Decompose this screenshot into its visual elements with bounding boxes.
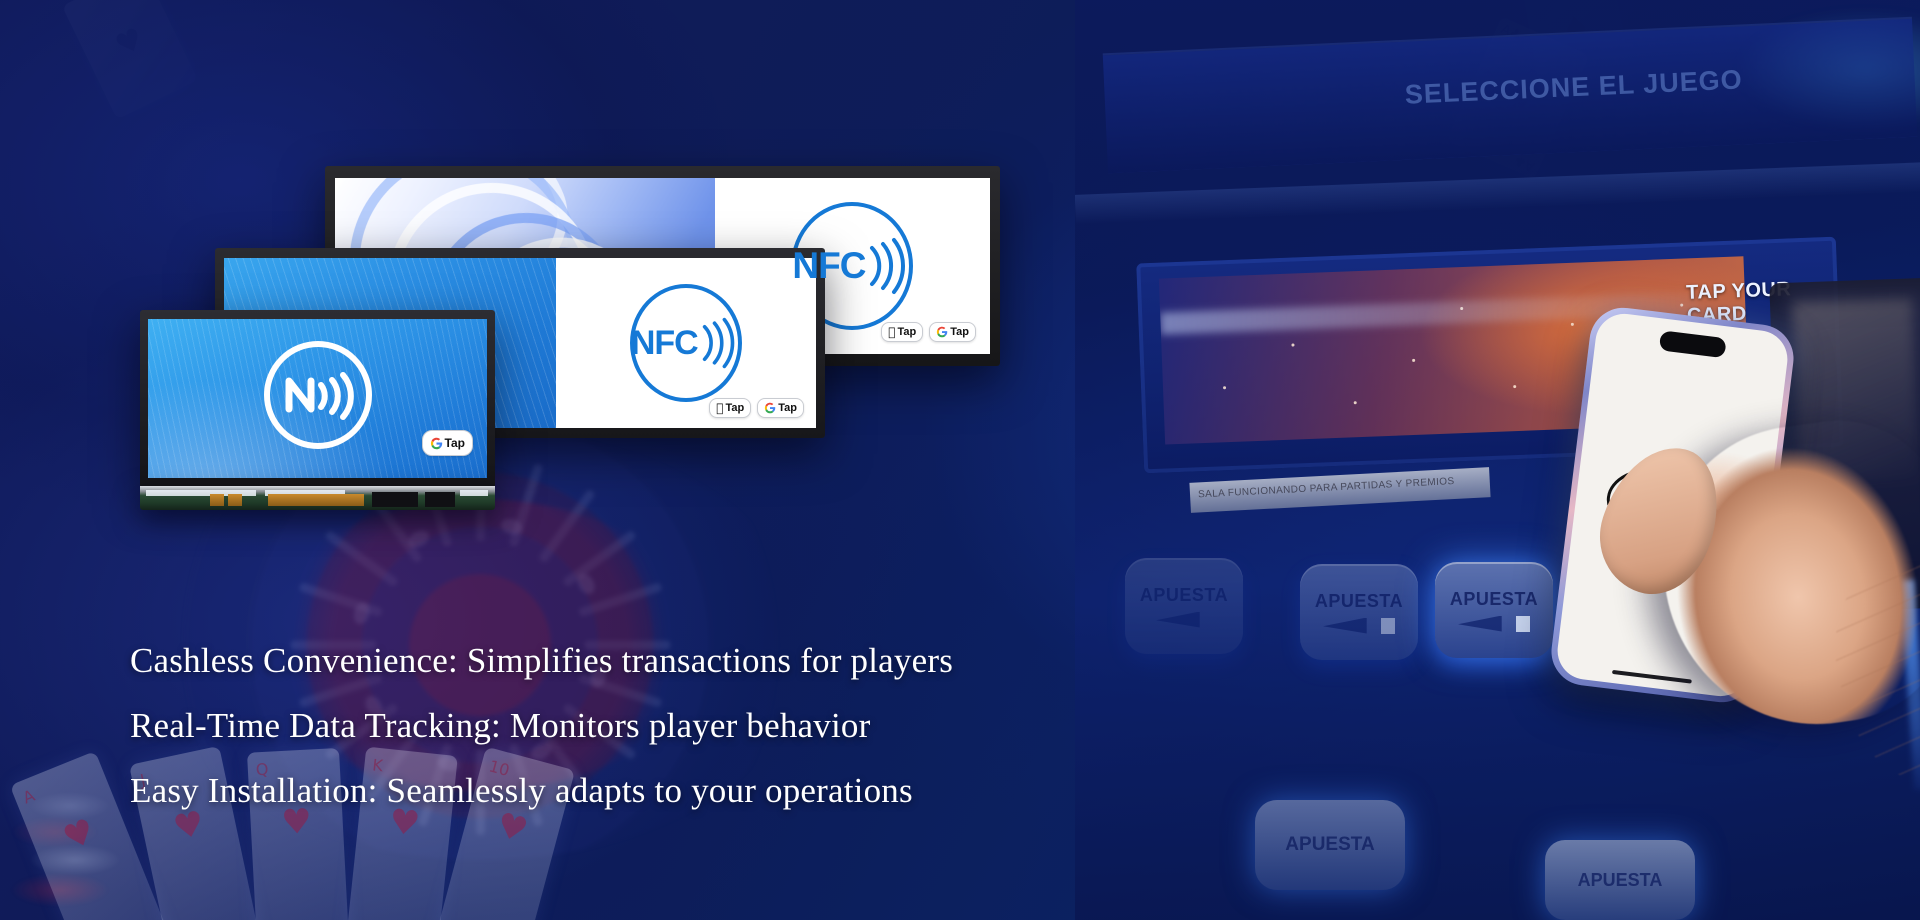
apple-logo-icon:  bbox=[716, 402, 723, 414]
nfc-logo: NFC bbox=[608, 284, 763, 402]
bet-button-label: APUESTA bbox=[1450, 589, 1538, 610]
bet-wedge-icon bbox=[1156, 612, 1212, 628]
ghost-card-topleft: ♥ bbox=[62, 0, 198, 119]
google-tap-label: Tap bbox=[950, 326, 969, 338]
phone-home-indicator bbox=[1611, 670, 1691, 684]
bet-button-lower-1[interactable]: APUESTA bbox=[1255, 800, 1405, 890]
google-g-icon bbox=[936, 326, 948, 338]
tap-badges-middle:  Tap Tap bbox=[709, 398, 804, 418]
google-tap-label: Tap bbox=[778, 402, 797, 414]
apple-logo-icon:  bbox=[888, 326, 895, 338]
bet-button-1[interactable]: APUESTA bbox=[1125, 558, 1243, 654]
apple-tap-badge[interactable]:  Tap bbox=[881, 322, 923, 342]
nfc-label: NFC bbox=[631, 324, 698, 363]
lcd-front-pcb bbox=[140, 486, 495, 510]
apple-tap-badge[interactable]:  Tap bbox=[709, 398, 751, 418]
copy-line-1: Cashless Convenience: Simplifies transac… bbox=[130, 628, 1130, 693]
bet-wedge-icon bbox=[1458, 616, 1514, 632]
tap-badges-back:  Tap Tap bbox=[881, 322, 976, 342]
bet-button-3[interactable]: APUESTA bbox=[1435, 562, 1553, 658]
bet-button-lower-2[interactable]: APUESTA bbox=[1545, 840, 1695, 920]
apple-tap-label: Tap bbox=[726, 402, 745, 414]
apple-tap-label: Tap bbox=[898, 326, 917, 338]
card-pip-icon: ♥ bbox=[111, 24, 148, 63]
machine-header-label: SELECCIONE EL JUEGO bbox=[1404, 64, 1743, 110]
google-tap-label: Tap bbox=[445, 436, 465, 450]
nfc-wave-icon bbox=[701, 315, 737, 371]
phone-in-hand bbox=[1545, 305, 1920, 725]
copy-line-2: Real-Time Data Tracking: Monitors player… bbox=[130, 693, 1130, 758]
lcd-display-front[interactable]: Tap bbox=[140, 310, 495, 488]
google-g-icon bbox=[430, 437, 443, 450]
nfc-n-wave-icon bbox=[264, 341, 372, 449]
google-tap-badge[interactable]: Tap bbox=[929, 322, 976, 342]
google-g-icon bbox=[764, 402, 776, 414]
nfc-label: NFC bbox=[792, 245, 865, 287]
tap-badges-front: Tap bbox=[422, 430, 473, 456]
bet-button-label: APUESTA bbox=[1140, 585, 1228, 606]
phone-notch bbox=[1658, 330, 1726, 358]
google-tap-badge[interactable]: Tap bbox=[422, 430, 473, 456]
bet-button-label: APUESTA bbox=[1315, 591, 1403, 612]
google-tap-badge[interactable]: Tap bbox=[757, 398, 804, 418]
nfc-panel-middle: NFC  Tap bbox=[556, 258, 816, 428]
copy-line-3: Easy Installation: Seamlessly adapts to … bbox=[130, 758, 1130, 823]
nfc-wave-icon bbox=[868, 236, 908, 296]
banner-stage: A♣ ♣ A♣ ♠ A♠ ♠ ♣ ♦ ♥ bbox=[0, 0, 1920, 920]
bet-wedge-icon bbox=[1323, 618, 1379, 634]
headline-copy: Cashless Convenience: Simplifies transac… bbox=[130, 628, 1130, 823]
bet-button-2[interactable]: APUESTA bbox=[1300, 564, 1418, 660]
